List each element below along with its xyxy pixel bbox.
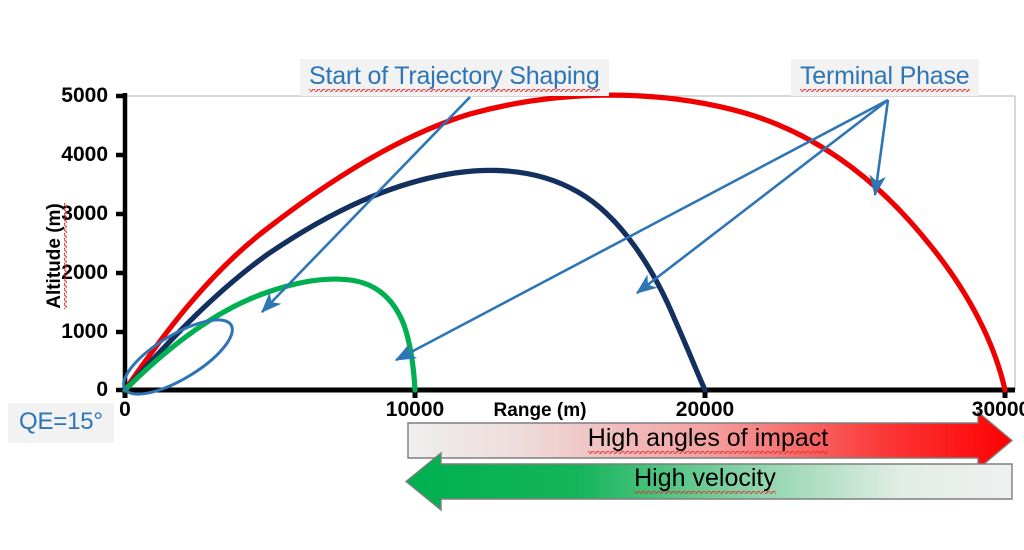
bar-label-high-velocity: High velocity (405, 464, 1005, 493)
y-axis-title-text: Altitude (m) (44, 203, 68, 309)
x-axis-title: Range (m) (440, 400, 640, 422)
bar-label-velocity-text: High velocity (634, 464, 776, 495)
callout-start-text: Start of Trajectory Shaping (309, 62, 600, 93)
x-tick-label-30000: 30000 (931, 398, 1024, 422)
callout-terminal-text: Terminal Phase (800, 62, 970, 93)
x-tick-label-20000: 20000 (635, 398, 775, 422)
callout-terminal-phase: Terminal Phase (791, 59, 979, 96)
y-axis-title: Altitude (m) (44, 186, 66, 326)
bar-label-high-angles-of-impact: High angles of impact (408, 424, 1008, 453)
bar-label-impact-text: High angles of impact (588, 424, 828, 455)
x-tick-label-0: 0 (55, 398, 195, 422)
y-tick-label-1000: 1000 (28, 320, 108, 344)
y-tick-label-5000: 5000 (28, 84, 108, 108)
trajectory-shaping-figure: Start of Trajectory Shaping Terminal Pha… (0, 0, 1024, 550)
y-tick-label-4000: 4000 (28, 143, 108, 167)
y-tick-label-2000: 2000 (28, 261, 108, 285)
callout-start-of-trajectory-shaping: Start of Trajectory Shaping (300, 59, 609, 96)
y-tick-label-3000: 3000 (28, 202, 108, 226)
